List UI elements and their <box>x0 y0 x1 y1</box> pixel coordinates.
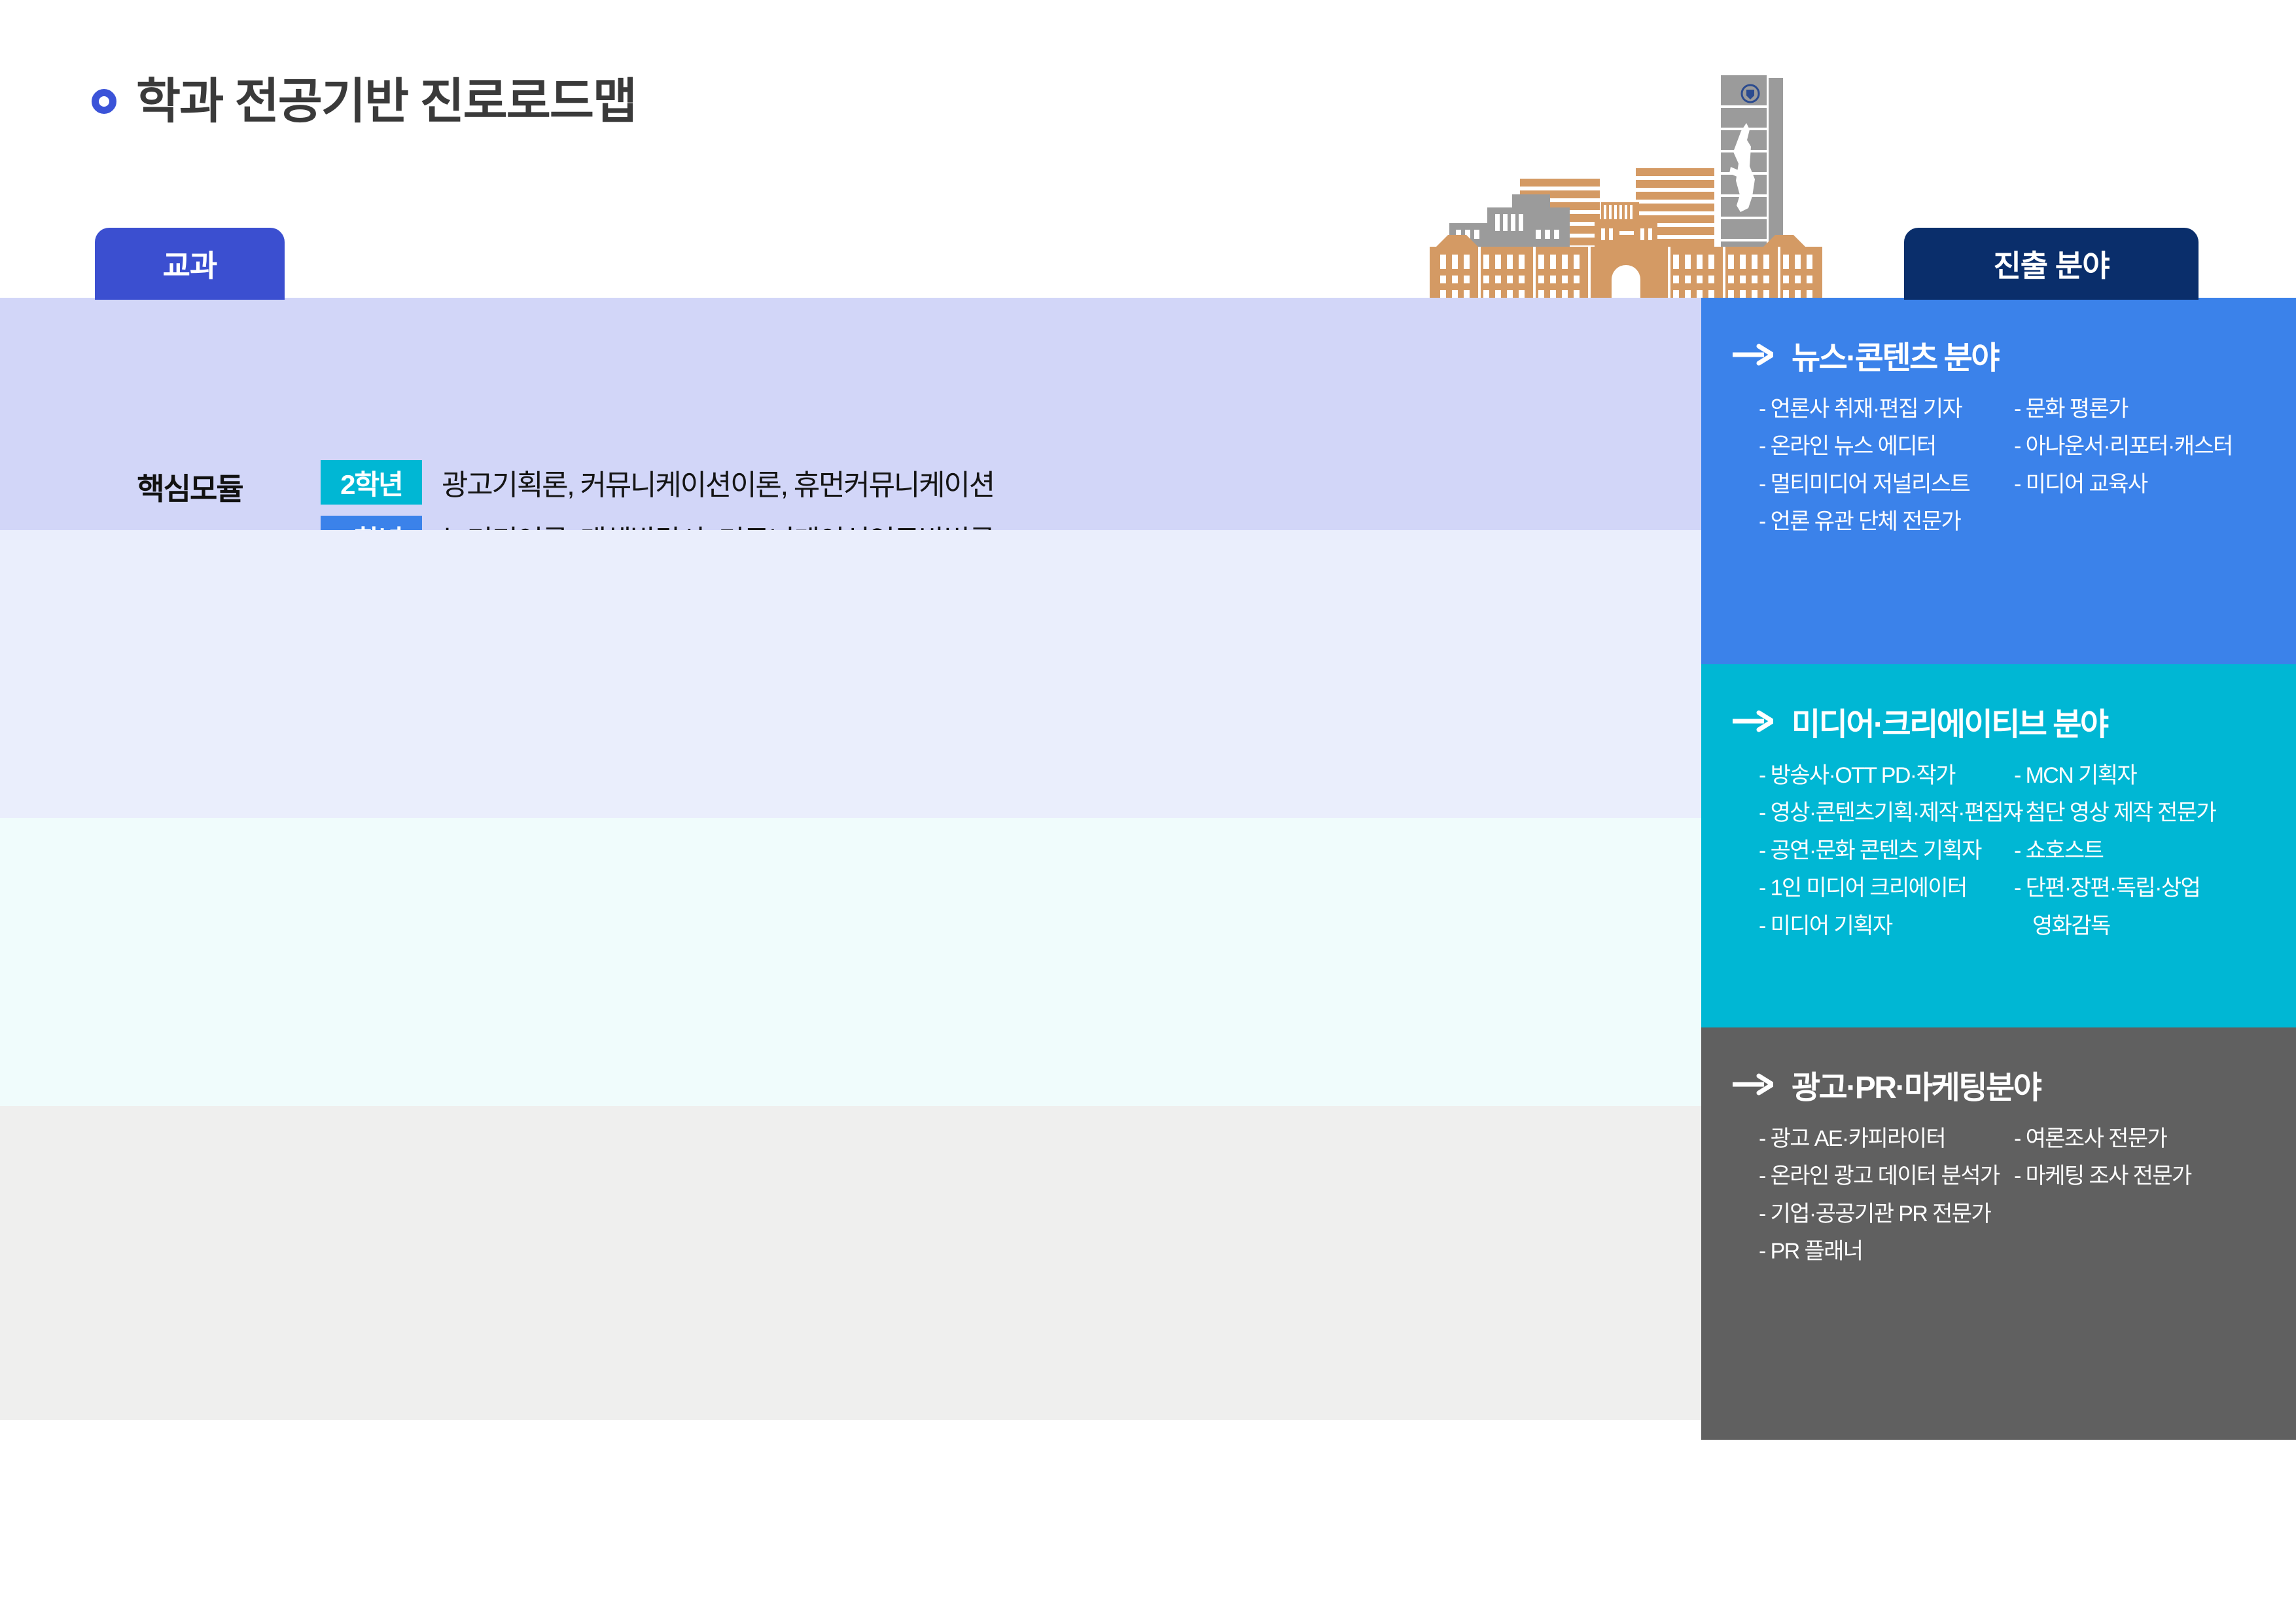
career-item: - 기업·공공기관 PR 전문가 <box>1759 1202 2014 1226</box>
module-label: 핵심모듈 <box>79 469 301 509</box>
page-title-text: 학과 전공기반 진로로드맵 <box>136 77 636 126</box>
career-panel-ad-pr-marketing: 광고·PR·마케팅분야 - 광고 AE·카피라이터 - 온라인 광고 데이터 분… <box>1701 1027 2296 1440</box>
career-item: - 문화 평론가 <box>2014 397 2276 421</box>
career-panel-header: 광고·PR·마케팅분야 <box>1701 1061 2296 1107</box>
curriculum-row-news-content: 뉴스콘텐츠 모듈 2학년 미디어저널리즘, 미디어글쓰기, 스피치와프리젠테이션… <box>0 530 1701 818</box>
career-item: - 멀티미디어 저널리스트 <box>1759 473 2014 497</box>
career-category-badge: 진출 분야 <box>1904 228 2199 300</box>
career-item: - 미디어 교육사 <box>2014 473 2276 497</box>
curriculum-row-core: 핵심모듈 2학년 광고기획론, 커뮤니케이션이론, 휴먼커뮤니케이션 3학년 뉴… <box>0 298 1701 530</box>
career-item-continuation: 영화감독 <box>2014 914 2276 938</box>
circle-outline-icon <box>92 89 116 114</box>
career-column-b: - 문화 평론가 - 아나운서·리포터·캐스터 - 미디어 교육사 <box>2014 397 2276 548</box>
career-column-a: - 방송사·OTT PD·작가 - 영상·콘텐츠기획·제작·편집자 - 공연·문… <box>1759 764 2014 952</box>
career-column-b: - 여론조사 전문가 - 마케팅 조사 전문가 <box>2014 1127 2276 1277</box>
career-item: - 온라인 뉴스 에디터 <box>1759 435 2014 459</box>
career-panel-title: 뉴스·콘텐츠 분야 <box>1792 332 1998 378</box>
career-item: - PR 플래너 <box>1759 1240 2014 1264</box>
arrow-right-icon <box>1733 1073 1773 1096</box>
subject-category-badge: 교과 <box>95 228 285 300</box>
career-item-columns: - 언론사 취재·편집 기자 - 온라인 뉴스 에디터 - 멀티미디어 저널리스… <box>1701 397 2296 548</box>
career-item: - 영상·콘텐츠기획·제작·편집자 <box>1759 801 2014 825</box>
career-item-columns: - 방송사·OTT PD·작가 - 영상·콘텐츠기획·제작·편집자 - 공연·문… <box>1701 764 2296 952</box>
career-item: - 온라인 광고 데이터 분석가 <box>1759 1164 2014 1188</box>
campus-skyline-illustration <box>1423 69 1829 304</box>
career-column-a: - 언론사 취재·편집 기자 - 온라인 뉴스 에디터 - 멀티미디어 저널리스… <box>1759 397 2014 548</box>
career-item: - 첨단 영상 제작 전문가 <box>2014 801 2276 825</box>
curriculum-row-media-creative: 미디어/ 크리에이티브 모듈 2학년 디지털콘텐츠스토리텔링, 프로그램프로덕션… <box>0 818 1701 1106</box>
course-list: 광고기획론, 커뮤니케이션이론, 휴먼커뮤니케이션 <box>442 460 994 507</box>
career-item: - 1인 미디어 크리에이터 <box>1759 876 2014 901</box>
career-item: - 단편·장편·독립·상업 <box>2014 876 2276 901</box>
page-title: 학과 전공기반 진로로드맵 <box>92 77 636 126</box>
curriculum-row-ad-pr: 광고마케팅/ PR모듈 2학년 소셜미디어의이해, 미디어글쓰기, 디지털콘텐츠… <box>0 1106 1701 1420</box>
career-panel-media-creative: 미디어·크리에이티브 분야 - 방송사·OTT PD·작가 - 영상·콘텐츠기획… <box>1701 664 2296 1027</box>
career-item: - 광고 AE·카피라이터 <box>1759 1127 2014 1151</box>
arrow-right-icon <box>1733 344 1773 366</box>
career-panel-news-content: 뉴스·콘텐츠 분야 - 언론사 취재·편집 기자 - 온라인 뉴스 에디터 - … <box>1701 298 2296 664</box>
subject-category-label: 교과 <box>163 242 217 285</box>
career-item: - 방송사·OTT PD·작가 <box>1759 764 2014 788</box>
year-course-row: 2학년 광고기획론, 커뮤니케이션이론, 휴먼커뮤니케이션 <box>321 460 994 507</box>
career-column-b: - MCN 기획자 - 첨단 영상 제작 전문가 - 쇼호스트 - 단편·장편·… <box>2014 764 2276 952</box>
career-panel-title: 미디어·크리에이티브 분야 <box>1792 698 2108 744</box>
career-item-columns: - 광고 AE·카피라이터 - 온라인 광고 데이터 분석가 - 기업·공공기관… <box>1701 1127 2296 1277</box>
career-item: - 미디어 기획자 <box>1759 914 2014 938</box>
career-column-a: - 광고 AE·카피라이터 - 온라인 광고 데이터 분석가 - 기업·공공기관… <box>1759 1127 2014 1277</box>
career-item: - 아나운서·리포터·캐스터 <box>2014 435 2276 459</box>
career-panel-title: 광고·PR·마케팅분야 <box>1792 1061 2040 1107</box>
career-panel-header: 뉴스·콘텐츠 분야 <box>1701 332 2296 378</box>
career-item: - 마케팅 조사 전문가 <box>2014 1164 2276 1188</box>
career-item: - MCN 기획자 <box>2014 764 2276 788</box>
arrow-right-icon <box>1733 710 1773 732</box>
year-badge: 2학년 <box>321 460 422 505</box>
career-item: - 여론조사 전문가 <box>2014 1127 2276 1151</box>
career-item: - 쇼호스트 <box>2014 839 2276 863</box>
career-item: - 언론사 취재·편집 기자 <box>1759 397 2014 421</box>
career-category-label: 진출 분야 <box>1993 242 2109 285</box>
career-item: - 공연·문화 콘텐츠 기획자 <box>1759 839 2014 863</box>
roadmap-infographic: 학과 전공기반 진로로드맵 <box>0 0 2296 1623</box>
career-item: - 언론 유관 단체 전문가 <box>1759 510 2014 534</box>
career-panel-header: 미디어·크리에이티브 분야 <box>1701 698 2296 744</box>
